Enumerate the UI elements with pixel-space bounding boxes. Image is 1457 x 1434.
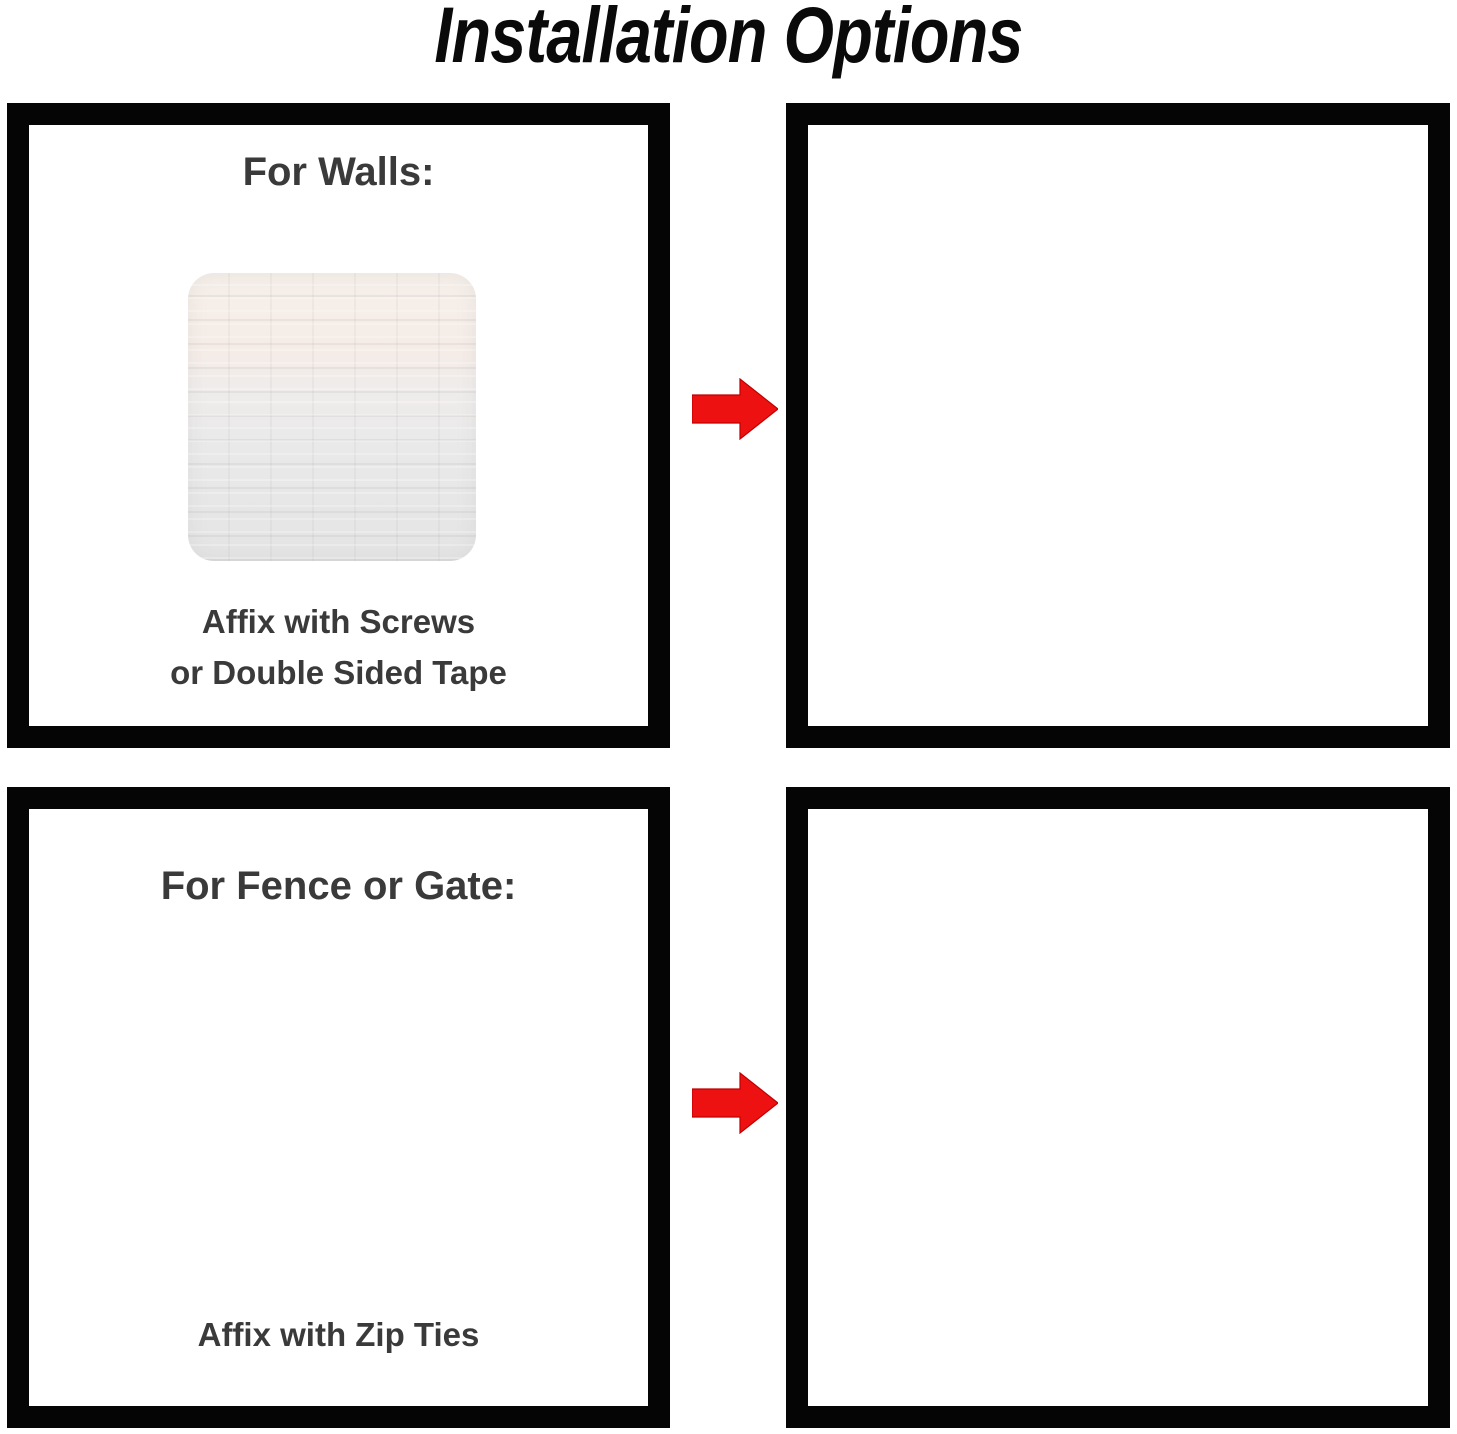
panel-for-fence-or-gate: For Fence or Gate: [7,787,670,1428]
for-walls-caption: Affix with Screws or Double Sided Tape [29,596,648,698]
for-walls-heading: For Walls: [29,150,648,195]
panel-fence-hardware: (Not Included) [786,787,1450,1428]
installation-options-infographic: Installation Options For Walls: Affix wi… [0,0,1457,1434]
for-fence-heading: For Fence or Gate: [29,864,648,909]
panel-fence-hardware-content: (Not Included) [808,809,1428,1406]
red-arrow-right-icon-top [692,378,778,440]
panel-wall-hardware-content: (Not Included) [808,125,1428,726]
page-title: Installation Options [131,0,1326,77]
panel-for-fence-content: For Fence or Gate: [29,809,648,1406]
panel-for-walls-content: For Walls: Affix with Screws or Double S… [29,125,648,726]
panel-wall-hardware: (Not Included) [786,103,1450,748]
panel-for-walls: For Walls: Affix with Screws or Double S… [7,103,670,748]
for-fence-caption: Affix with Zip Ties [29,1309,648,1360]
for-walls-caption-line-1: Affix with Screws [29,596,648,647]
for-fence-caption-line-1: Affix with Zip Ties [29,1309,648,1360]
white-brick-wall-image [188,273,476,561]
red-arrow-right-icon-bottom [692,1072,778,1134]
for-walls-caption-line-2: or Double Sided Tape [29,647,648,698]
